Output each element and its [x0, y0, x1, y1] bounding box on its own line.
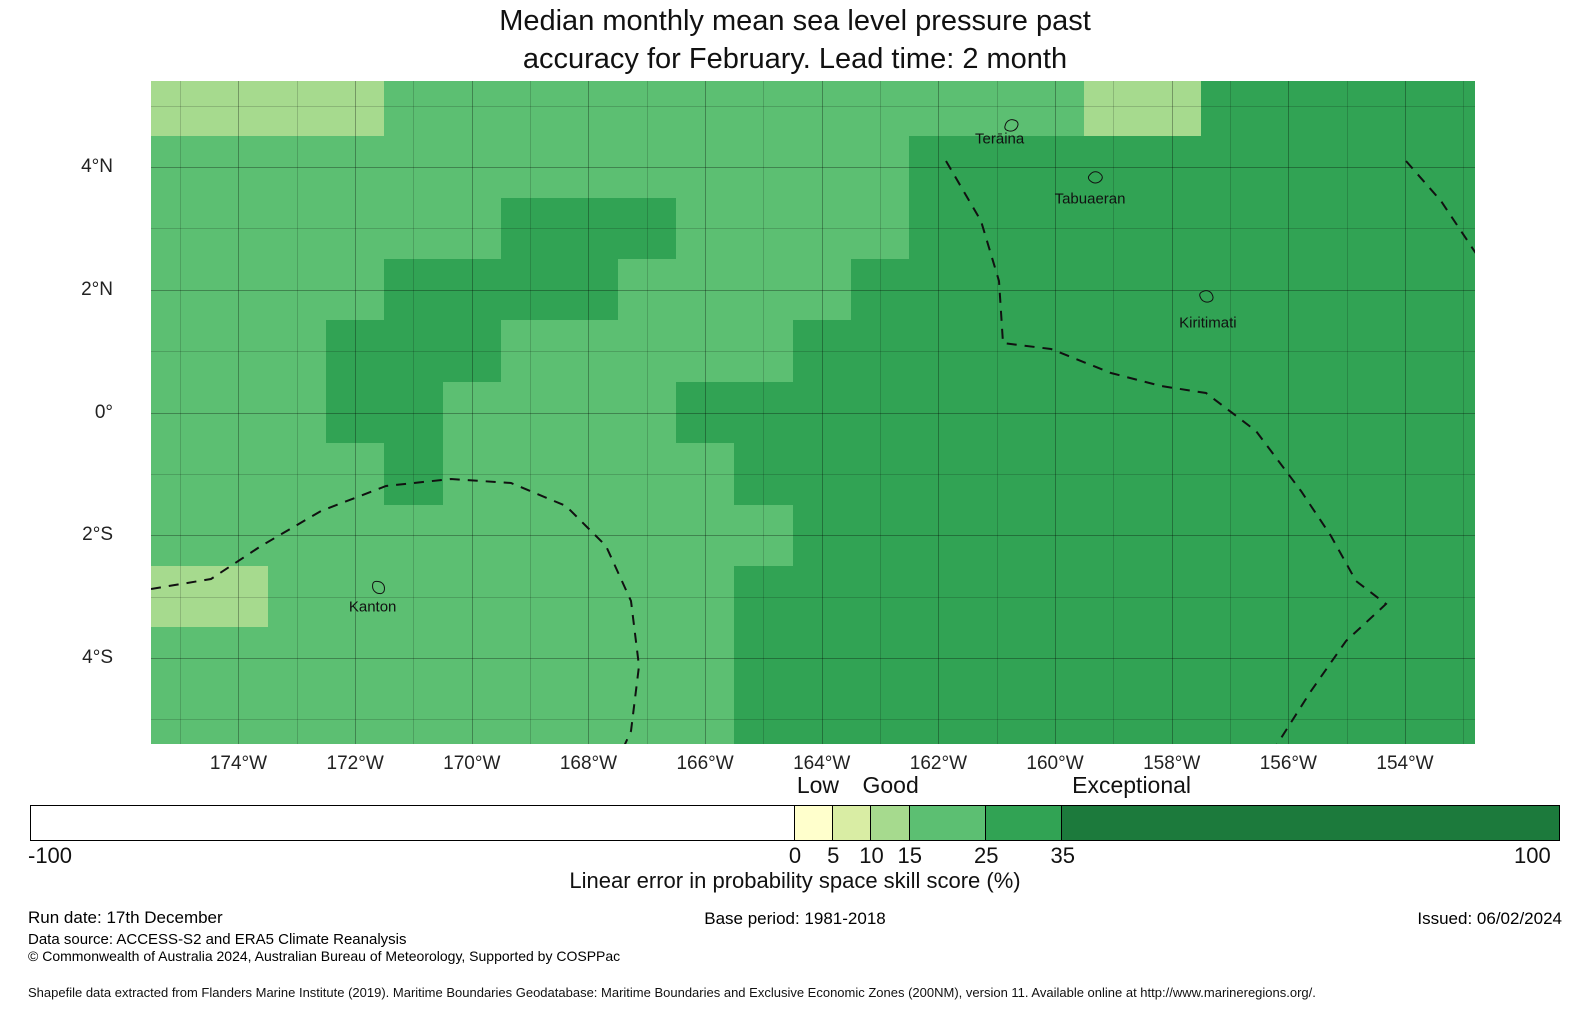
latitude-tick-label: 4°S: [0, 647, 113, 669]
longitude-tick-label: 154°W: [1335, 753, 1475, 775]
footer-copyright: © Commonwealth of Australia 2024, Austra…: [28, 948, 620, 964]
island-label: Kanton: [349, 599, 397, 616]
eez-boundary-lines: [151, 81, 1475, 744]
colorbar-segment: [986, 806, 1062, 840]
title-line-2: accuracy for February. Lead time: 2 mont…: [0, 40, 1590, 78]
latitude-tick-label: 2°S: [0, 524, 113, 546]
colorbar-category-exceptional: Exceptional: [1072, 772, 1191, 799]
island-label: Tabuaeran: [1055, 191, 1126, 208]
colorbar-segment: [833, 806, 871, 840]
colorbar-segment: [910, 806, 986, 840]
colorbar-axis-label: Linear error in probability space skill …: [0, 868, 1590, 894]
footer-issued-date: Issued: 06/02/2024: [1417, 909, 1562, 929]
footer-base-period: Base period: 1981-2018: [0, 909, 1590, 929]
colorbar-tick-label: 25: [974, 843, 998, 869]
map-plot-area[interactable]: TerāinaTabuaeranKiritimatiKanton: [151, 81, 1475, 744]
colorbar-category-low: Low: [797, 772, 839, 799]
latitude-tick-label: 4°N: [0, 156, 113, 178]
colorbar-segment: [871, 806, 909, 840]
colorbar-segment: [1062, 806, 1559, 840]
colorbar[interactable]: [30, 805, 1560, 841]
colorbar-tick-label: 10: [859, 843, 883, 869]
page-title: Median monthly mean sea level pressure p…: [0, 2, 1590, 78]
colorbar-tick-label: 100: [1514, 843, 1551, 869]
colorbar-segment: [795, 806, 833, 840]
colorbar-segment: [31, 806, 795, 840]
latitude-tick-label: 2°N: [0, 279, 113, 301]
colorbar-category-good: Good: [862, 772, 918, 799]
colorbar-tick-label: 35: [1051, 843, 1075, 869]
colorbar-tick-label: 0: [789, 843, 801, 869]
colorbar-tick-label: -100: [28, 843, 72, 869]
colorbar-tick-label: 5: [827, 843, 839, 869]
eez-boundary-path: [946, 161, 1386, 744]
eez-boundary-path: [1406, 161, 1475, 581]
title-line-1: Median monthly mean sea level pressure p…: [0, 2, 1590, 40]
footer-shapefile-attribution: Shapefile data extracted from Flanders M…: [28, 985, 1316, 1000]
island-label: Kiritimati: [1179, 315, 1237, 332]
latitude-tick-label: 0°: [0, 402, 113, 424]
footer-data-source: Data source: ACCESS-S2 and ERA5 Climate …: [28, 931, 407, 948]
colorbar-tick-label: 15: [898, 843, 922, 869]
island-label: Terāina: [975, 131, 1024, 148]
